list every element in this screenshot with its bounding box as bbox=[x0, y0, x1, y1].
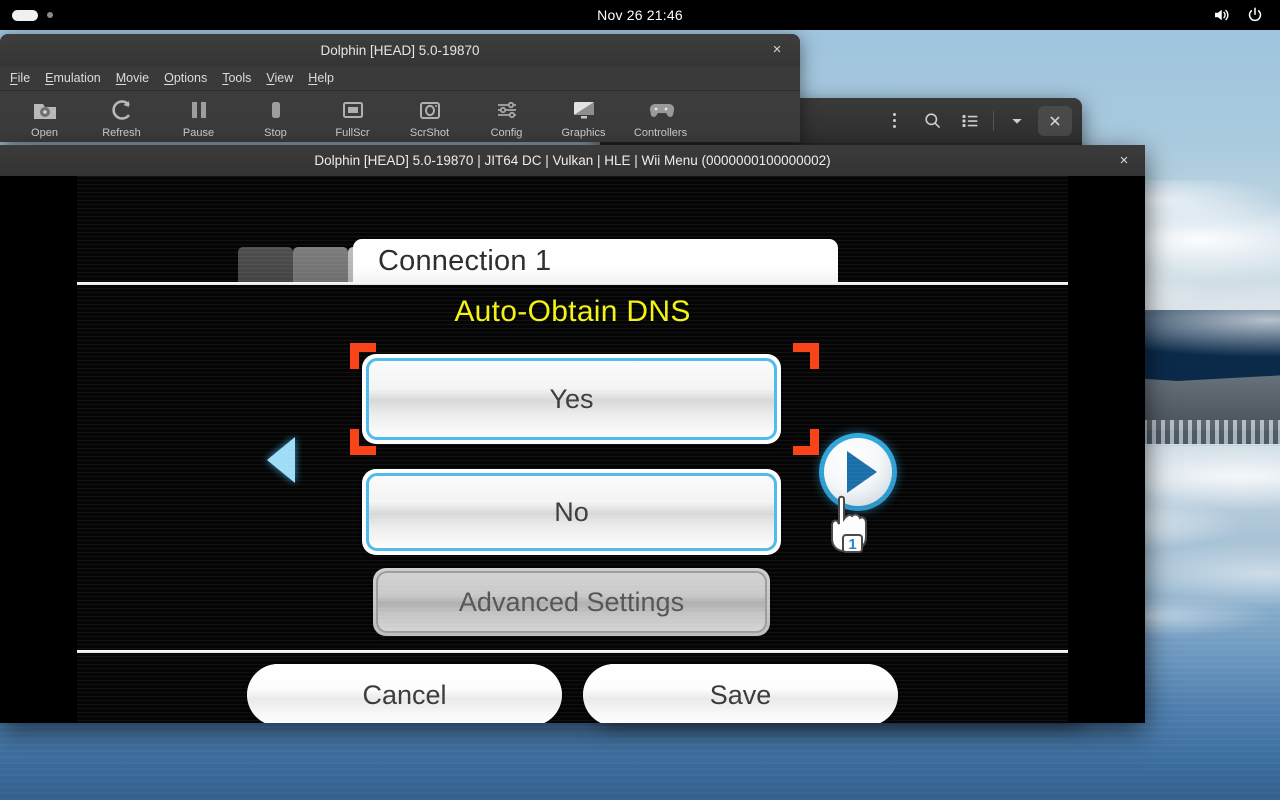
connection-tabs: Connection 1 bbox=[77, 233, 1068, 283]
menu-view-label: iew bbox=[275, 71, 294, 85]
search-button[interactable] bbox=[915, 106, 949, 136]
menu-options-mnemonic: O bbox=[164, 71, 174, 85]
option-button-yes-label: Yes bbox=[549, 384, 593, 415]
top-bar-status-area[interactable] bbox=[1020, 6, 1280, 24]
connection-tab-inactive-2[interactable] bbox=[293, 247, 348, 283]
dolphin-menubar: File Emulation Movie Options Tools View … bbox=[0, 66, 800, 91]
arrow-left-icon[interactable] bbox=[267, 437, 295, 483]
advanced-settings-label: Advanced Settings bbox=[459, 587, 684, 618]
dolphin-render-window[interactable]: Dolphin [HEAD] 5.0-19870 | JIT64 DC | Vu… bbox=[0, 145, 1145, 723]
wii-hand-cursor: 1 bbox=[825, 491, 869, 555]
cancel-button-label: Cancel bbox=[362, 680, 446, 711]
status-dot bbox=[47, 12, 53, 18]
header-separator bbox=[993, 111, 994, 131]
menu-tools[interactable]: Tools bbox=[222, 71, 251, 85]
menu-emulation-label: mulation bbox=[54, 71, 101, 85]
advanced-settings-button[interactable]: Advanced Settings bbox=[373, 568, 770, 636]
view-options-dropdown-button[interactable] bbox=[1000, 106, 1034, 136]
monitor-graphics-icon bbox=[571, 95, 597, 125]
toolbar-button-pause[interactable]: Pause bbox=[160, 95, 237, 139]
menu-options-label: ptions bbox=[174, 71, 207, 85]
cancel-button[interactable]: Cancel bbox=[247, 664, 562, 723]
toolbar-label-refresh: Refresh bbox=[102, 127, 141, 139]
three-dots-vertical-icon bbox=[893, 113, 896, 128]
toolbar-button-open[interactable]: Open bbox=[6, 95, 83, 139]
gnome-top-bar: Nov 26 21:46 bbox=[0, 0, 1280, 30]
toolbar-button-graphics[interactable]: Graphics bbox=[545, 95, 622, 139]
toolbar-label-graphics: Graphics bbox=[561, 127, 605, 139]
volume-speaker-icon[interactable] bbox=[1212, 6, 1230, 24]
top-bar-left-cluster bbox=[0, 10, 260, 21]
render-window-title-text: Dolphin [HEAD] 5.0-19870 | JIT64 DC | Vu… bbox=[314, 153, 830, 168]
menu-help-mnemonic: H bbox=[308, 71, 317, 85]
option-button-no[interactable]: No bbox=[362, 469, 781, 555]
dolphin-toolbar: Open Refresh Pause Stop bbox=[0, 91, 800, 142]
connection-tab-active[interactable]: Connection 1 bbox=[353, 239, 838, 283]
option-button-yes-inner: Yes bbox=[366, 358, 777, 440]
menu-options[interactable]: Options bbox=[164, 71, 207, 85]
chevron-down-icon bbox=[1009, 113, 1025, 129]
advanced-settings-button-inner: Advanced Settings bbox=[376, 571, 767, 633]
refresh-icon bbox=[110, 95, 134, 125]
panel-top-divider bbox=[77, 282, 1068, 285]
wii-menu-screen: Connection 1 Auto-Obtain DNS Yes bbox=[77, 176, 1068, 723]
option-button-no-label: No bbox=[554, 497, 589, 528]
open-disc-folder-icon bbox=[32, 95, 58, 125]
search-icon bbox=[923, 111, 942, 130]
selection-bracket-top-right bbox=[793, 343, 819, 369]
render-window-titlebar: Dolphin [HEAD] 5.0-19870 | JIT64 DC | Vu… bbox=[0, 145, 1145, 176]
arrow-right-icon bbox=[847, 451, 877, 493]
save-button-label: Save bbox=[710, 680, 772, 711]
toolbar-button-refresh[interactable]: Refresh bbox=[83, 95, 160, 139]
pause-icon bbox=[188, 95, 210, 125]
toolbar-label-screenshot: ScrShot bbox=[410, 127, 449, 139]
power-icon[interactable] bbox=[1246, 6, 1264, 24]
menu-view[interactable]: View bbox=[266, 71, 293, 85]
overflow-menu-button[interactable] bbox=[877, 106, 911, 136]
screen: Dolphin [HEAD] 5.0-19870 × File Emulatio… bbox=[0, 0, 1280, 800]
toolbar-button-config[interactable]: Config bbox=[468, 95, 545, 139]
toolbar-label-stop: Stop bbox=[264, 127, 287, 139]
save-button[interactable]: Save bbox=[583, 664, 898, 723]
dolphin-main-close-button[interactable]: × bbox=[768, 41, 786, 59]
menu-file-mnemonic: F bbox=[10, 71, 18, 85]
option-button-no-inner: No bbox=[366, 473, 777, 551]
selection-bracket-top-left bbox=[350, 343, 376, 369]
view-list-button[interactable] bbox=[953, 106, 987, 136]
connection-tab-active-label: Connection 1 bbox=[353, 245, 551, 278]
toolbar-button-controllers[interactable]: Controllers bbox=[622, 95, 699, 139]
menu-file-label: ile bbox=[18, 71, 31, 85]
dolphin-main-window[interactable]: Dolphin [HEAD] 5.0-19870 × File Emulatio… bbox=[0, 34, 800, 142]
background-window-close-button[interactable] bbox=[1038, 106, 1072, 136]
toolbar-button-fullscreen[interactable]: FullScr bbox=[314, 95, 391, 139]
menu-tools-label: ools bbox=[228, 71, 251, 85]
panel-bottom-divider bbox=[77, 650, 1068, 653]
toolbar-label-pause: Pause bbox=[183, 127, 214, 139]
fullscreen-icon bbox=[341, 95, 365, 125]
dolphin-main-titlebar: Dolphin [HEAD] 5.0-19870 × bbox=[0, 34, 800, 66]
selection-bracket-bottom-right bbox=[793, 429, 819, 455]
menu-movie-label: ovie bbox=[126, 71, 149, 85]
toolbar-button-screenshot[interactable]: ScrShot bbox=[391, 95, 468, 139]
menu-movie-mnemonic: M bbox=[116, 71, 126, 85]
menu-view-mnemonic: V bbox=[266, 71, 274, 85]
connection-tab-inactive-1[interactable] bbox=[238, 247, 293, 283]
dolphin-main-title-text: Dolphin [HEAD] 5.0-19870 bbox=[320, 43, 479, 58]
toolbar-label-controllers: Controllers bbox=[634, 127, 687, 139]
menu-emulation[interactable]: Emulation bbox=[45, 71, 101, 85]
menu-emulation-mnemonic: E bbox=[45, 71, 53, 85]
gamepad-icon bbox=[647, 95, 675, 125]
camera-icon bbox=[418, 95, 442, 125]
option-button-yes[interactable]: Yes bbox=[362, 354, 781, 444]
render-canvas: Connection 1 Auto-Obtain DNS Yes bbox=[0, 176, 1145, 723]
close-icon bbox=[1048, 114, 1062, 128]
sliders-config-icon bbox=[495, 95, 519, 125]
toolbar-button-stop[interactable]: Stop bbox=[237, 95, 314, 139]
menu-help-label: elp bbox=[317, 71, 334, 85]
list-view-icon bbox=[961, 112, 979, 130]
wii-cursor-player-number: 1 bbox=[848, 536, 856, 553]
menu-movie[interactable]: Movie bbox=[116, 71, 149, 85]
page-title: Auto-Obtain DNS bbox=[77, 295, 1068, 329]
clock[interactable]: Nov 26 21:46 bbox=[260, 7, 1020, 23]
menu-help[interactable]: Help bbox=[308, 71, 334, 85]
stop-icon bbox=[265, 95, 287, 125]
selection-bracket-bottom-left bbox=[350, 429, 376, 455]
window-pill-indicator[interactable] bbox=[12, 10, 38, 21]
toolbar-label-open: Open bbox=[31, 127, 58, 139]
toolbar-label-fullscreen: FullScr bbox=[335, 127, 369, 139]
toolbar-label-config: Config bbox=[491, 127, 523, 139]
menu-file[interactable]: File bbox=[10, 71, 30, 85]
render-window-close-button[interactable]: × bbox=[1115, 152, 1133, 170]
